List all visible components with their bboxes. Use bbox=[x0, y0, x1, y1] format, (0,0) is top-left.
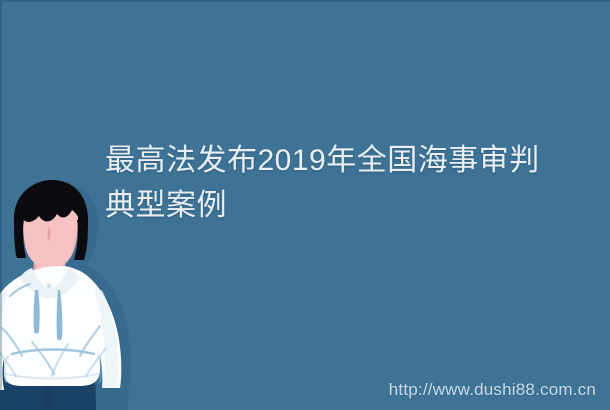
cover-title: 最高法发布2019年全国海事审判典型案例 bbox=[105, 138, 550, 228]
cover-image-canvas: 最高法发布2019年全国海事审判典型案例 http://www.dushi88.… bbox=[0, 0, 610, 410]
site-url-watermark: http://www.dushi88.com.cn bbox=[389, 380, 596, 400]
